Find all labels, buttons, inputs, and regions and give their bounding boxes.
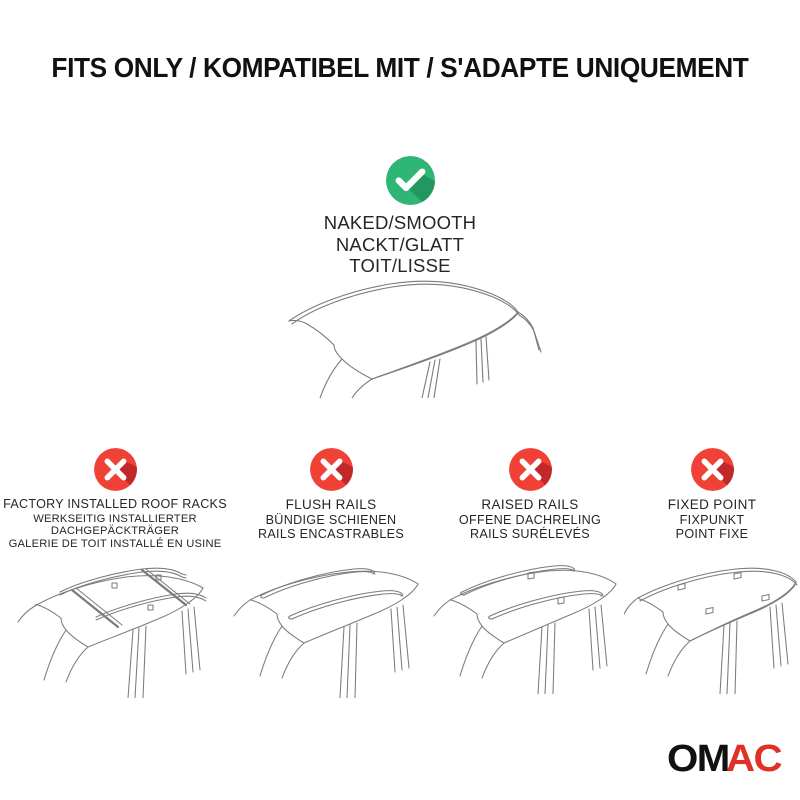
cross-circle-icon: [509, 448, 552, 491]
label-de-1: BÜNDIGE SCHIENEN: [228, 513, 434, 528]
page-title-bar: FITS ONLY / KOMPATIBEL MIT / S'ADAPTE UN…: [0, 52, 800, 84]
label-fr: POINT FIXE: [624, 527, 800, 542]
logo-text-om: OM: [667, 740, 729, 778]
label-de-1: FIXPUNKT: [624, 513, 800, 528]
compatible-labels: NAKED/SMOOTH NACKT/GLATT TOIT/LISSE: [0, 212, 800, 277]
label-fr: RAILS ENCASTRABLES: [228, 527, 434, 542]
compatible-label-fr: TOIT/LISSE: [0, 255, 800, 277]
label-en: FACTORY INSTALLED ROOF RACKS: [0, 497, 230, 513]
incompatible-labels: FACTORY INSTALLED ROOF RACKS WERKSEITIG …: [0, 497, 230, 551]
label-en: RAISED RAILS: [432, 497, 628, 513]
label-en: FIXED POINT: [624, 497, 800, 513]
car-roof-factory-rack-illustration: [0, 548, 230, 698]
label-fr: RAILS SURÉLEVÉS: [432, 527, 628, 542]
incompatible-labels: FLUSH RAILS BÜNDIGE SCHIENEN RAILS ENCAS…: [228, 497, 434, 542]
check-circle-icon: [386, 156, 435, 205]
car-roof-raised-rails-illustration: [432, 544, 628, 694]
cross-circle-icon: [691, 448, 734, 491]
omac-logo: OM AC: [667, 740, 778, 778]
label-de-2: DACHGEPÄCKTRÄGER: [0, 525, 230, 538]
incompatible-item-flush-rails: FLUSH RAILS BÜNDIGE SCHIENEN RAILS ENCAS…: [228, 448, 434, 542]
incompatible-item-raised-rails: RAISED RAILS OFFENE DACHRELING RAILS SUR…: [432, 448, 628, 542]
incompatible-item-factory-roof-racks: FACTORY INSTALLED ROOF RACKS WERKSEITIG …: [0, 448, 230, 551]
incompatible-item-fixed-point: FIXED POINT FIXPUNKT POINT FIXE: [624, 448, 800, 542]
label-de-1: WERKSEITIG INSTALLIERTER: [0, 513, 230, 526]
incompatible-section: FACTORY INSTALLED ROOF RACKS WERKSEITIG …: [0, 448, 800, 708]
cross-circle-icon: [94, 448, 137, 491]
label-de-1: OFFENE DACHRELING: [432, 513, 628, 528]
car-roof-naked-smooth-illustration: [262, 276, 562, 398]
logo-text-ac: AC: [726, 740, 781, 778]
cross-circle-icon: [310, 448, 353, 491]
car-roof-flush-rails-illustration: [228, 548, 434, 698]
incompatible-labels: FIXED POINT FIXPUNKT POINT FIXE: [624, 497, 800, 542]
incompatible-labels: RAISED RAILS OFFENE DACHRELING RAILS SUR…: [432, 497, 628, 542]
car-roof-fixed-point-illustration: [624, 544, 800, 694]
compatible-label-en: NAKED/SMOOTH: [0, 212, 800, 234]
compatible-label-de: NACKT/GLATT: [0, 234, 800, 256]
page-title: FITS ONLY / KOMPATIBEL MIT / S'ADAPTE UN…: [51, 52, 748, 84]
label-en: FLUSH RAILS: [228, 497, 434, 513]
